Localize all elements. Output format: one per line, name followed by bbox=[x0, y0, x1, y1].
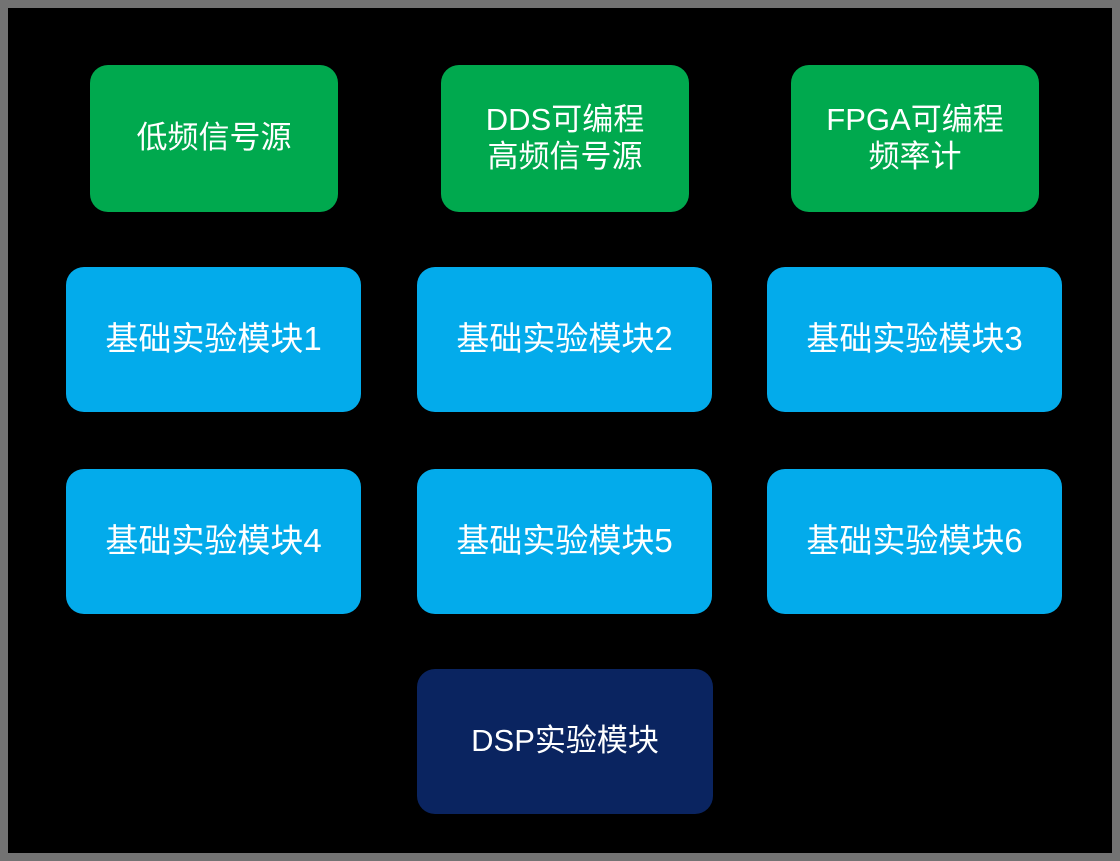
node-dsp-module[interactable]: DSP实验模块 bbox=[417, 669, 713, 814]
node-label: 基础实验模块6 bbox=[800, 522, 1028, 561]
node-basic-module-2[interactable]: 基础实验模块2 bbox=[417, 267, 712, 412]
node-basic-module-5[interactable]: 基础实验模块5 bbox=[417, 469, 712, 614]
node-low-freq-source[interactable]: 低频信号源 bbox=[90, 65, 338, 212]
node-label: 基础实验模块5 bbox=[450, 522, 678, 561]
node-label: DDS可编程 高频信号源 bbox=[480, 102, 650, 175]
node-fpga-frequency-counter[interactable]: FPGA可编程 频率计 bbox=[791, 65, 1039, 212]
node-basic-module-4[interactable]: 基础实验模块4 bbox=[66, 469, 361, 614]
diagram-stage: 低频信号源DDS可编程 高频信号源FPGA可编程 频率计基础实验模块1基础实验模… bbox=[8, 8, 1112, 853]
node-label: 低频信号源 bbox=[131, 120, 298, 157]
node-label: 基础实验模块1 bbox=[99, 320, 327, 359]
diagram-canvas: 低频信号源DDS可编程 高频信号源FPGA可编程 频率计基础实验模块1基础实验模… bbox=[0, 0, 1120, 861]
node-label: 基础实验模块4 bbox=[99, 522, 327, 561]
node-label: DSP实验模块 bbox=[465, 723, 665, 760]
node-dds-high-freq-source[interactable]: DDS可编程 高频信号源 bbox=[441, 65, 689, 212]
node-basic-module-1[interactable]: 基础实验模块1 bbox=[66, 267, 361, 412]
node-basic-module-6[interactable]: 基础实验模块6 bbox=[767, 469, 1062, 614]
node-label: FPGA可编程 频率计 bbox=[820, 102, 1009, 175]
node-basic-module-3[interactable]: 基础实验模块3 bbox=[767, 267, 1062, 412]
node-label: 基础实验模块3 bbox=[800, 320, 1028, 359]
node-label: 基础实验模块2 bbox=[450, 320, 678, 359]
